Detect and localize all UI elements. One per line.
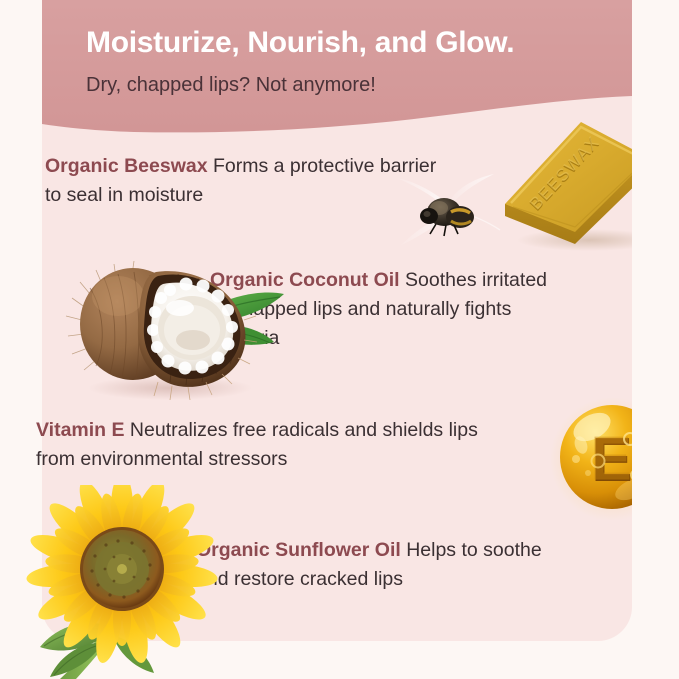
ingredient-text-beeswax: Organic Beeswax Forms a protective barri… — [45, 152, 445, 210]
page-subtitle: Dry, chapped lips? Not anymore! — [86, 74, 376, 97]
coconut-image — [60, 248, 290, 403]
vitamin-e-capsule-image: E E — [546, 393, 632, 525]
ingredient-name-vitamin-e: Vitamin E — [36, 419, 125, 441]
ingredient-name-beeswax: Organic Beeswax — [45, 155, 208, 177]
ingredient-text-vitamin-e: Vitamin E Neutralizes free radicals and … — [36, 416, 491, 474]
sunflower-image — [10, 485, 240, 679]
infographic-stage: Moisturize, Nourish, and Glow. Dry, chap… — [0, 0, 679, 679]
ingredient-text-sunflower: Organic Sunflower Oil Helps to soothe an… — [196, 536, 546, 594]
page-title: Moisturize, Nourish, and Glow. — [86, 26, 514, 60]
bee-image — [394, 172, 504, 257]
beeswax-block-image: BEESWAX BEESWAX — [497, 108, 632, 258]
